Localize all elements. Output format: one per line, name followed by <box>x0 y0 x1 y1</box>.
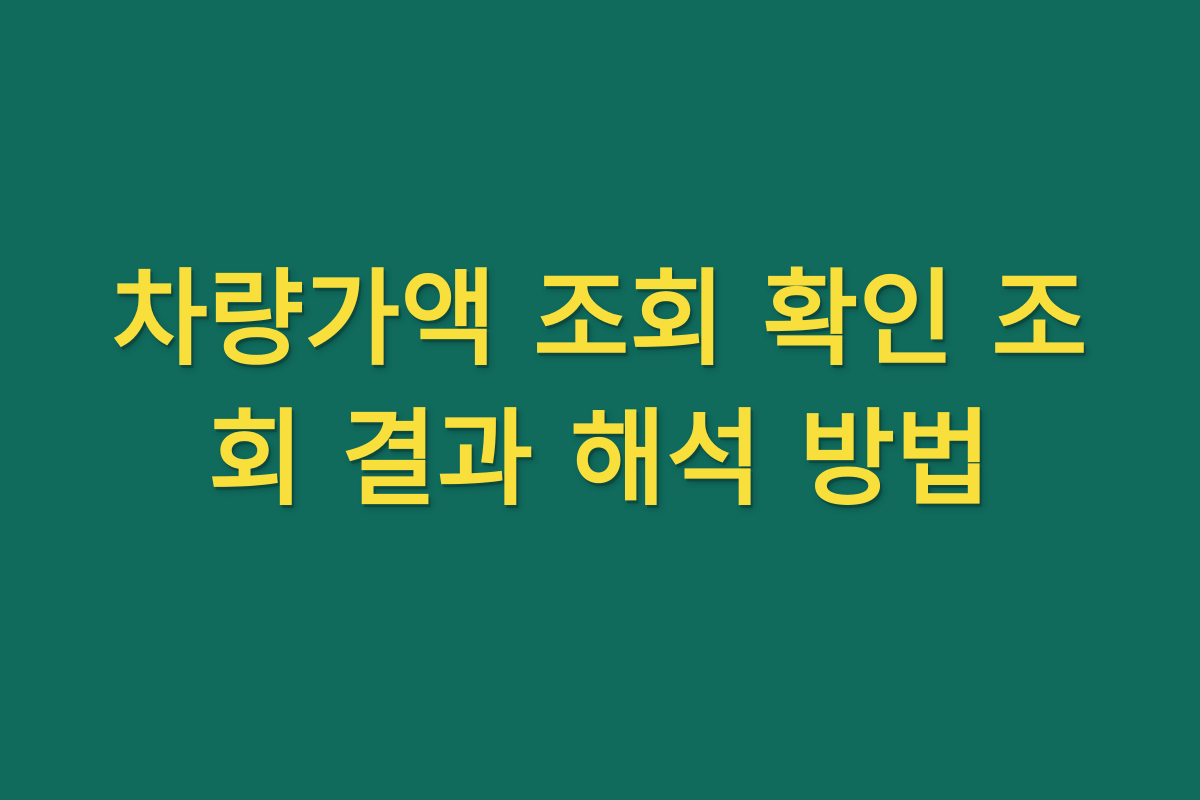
thumbnail-banner: 차량가액 조회 확인 조 회 결과 해석 방법 <box>0 0 1200 800</box>
banner-title: 차량가액 조회 확인 조 회 결과 해석 방법 <box>100 249 1100 529</box>
banner-title-line-1: 차량가액 조회 확인 조 <box>100 249 1100 389</box>
banner-title-line-2: 회 결과 해석 방법 <box>100 389 1100 529</box>
